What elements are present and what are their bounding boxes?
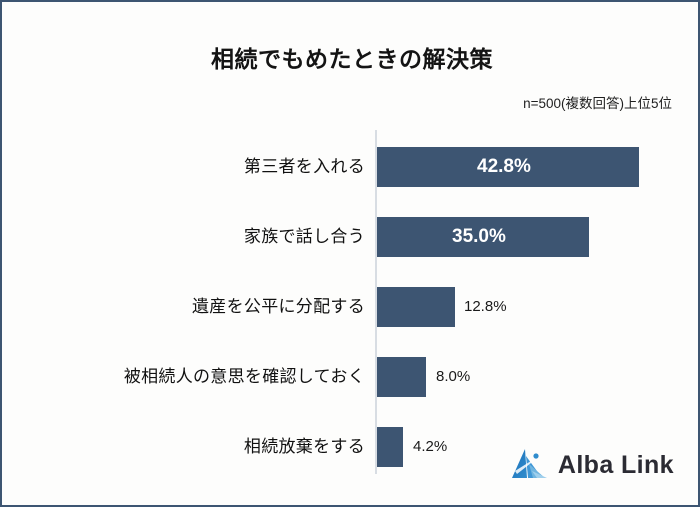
logo-wordmark: Alba Link xyxy=(558,451,674,480)
bar-segment[interactable] xyxy=(377,427,403,467)
bar-value-label: 8.0% xyxy=(436,357,470,397)
bar-value-label: 4.2% xyxy=(413,427,447,467)
bar-segment[interactable] xyxy=(377,357,426,397)
category-label: 第三者を入れる xyxy=(244,147,365,187)
bar-value-label: 35.0% xyxy=(452,217,506,257)
bar-row: 第三者を入れる 42.8% xyxy=(2,147,700,187)
category-label: 相続放棄をする xyxy=(244,427,365,467)
brand-logo[interactable]: Alba Link xyxy=(509,447,674,483)
bar-segment[interactable] xyxy=(377,287,455,327)
alba-link-triangle-icon xyxy=(509,447,549,483)
bar-value-label: 42.8% xyxy=(477,147,531,187)
bar-row: 遺産を公平に分配する 12.8% xyxy=(2,287,700,327)
bar-row: 家族で話し合う 35.0% xyxy=(2,217,700,257)
chart-canvas: 相続でもめたときの解決策 n=500(複数回答)上位5位 第三者を入れる 42.… xyxy=(0,0,700,507)
chart-subtitle-sample-size: n=500(複数回答)上位5位 xyxy=(523,92,672,112)
category-label: 遺産を公平に分配する xyxy=(192,287,365,327)
bar-row: 被相続人の意思を確認しておく 8.0% xyxy=(2,357,700,397)
category-label: 家族で話し合う xyxy=(244,217,365,257)
category-label: 被相続人の意思を確認しておく xyxy=(124,357,365,397)
page-title: 相続でもめたときの解決策 xyxy=(2,40,700,74)
plot-area: 第三者を入れる 42.8% 家族で話し合う 35.0% 遺産を公平に分配する 1… xyxy=(2,130,700,474)
bar-value-label: 12.8% xyxy=(464,287,507,327)
